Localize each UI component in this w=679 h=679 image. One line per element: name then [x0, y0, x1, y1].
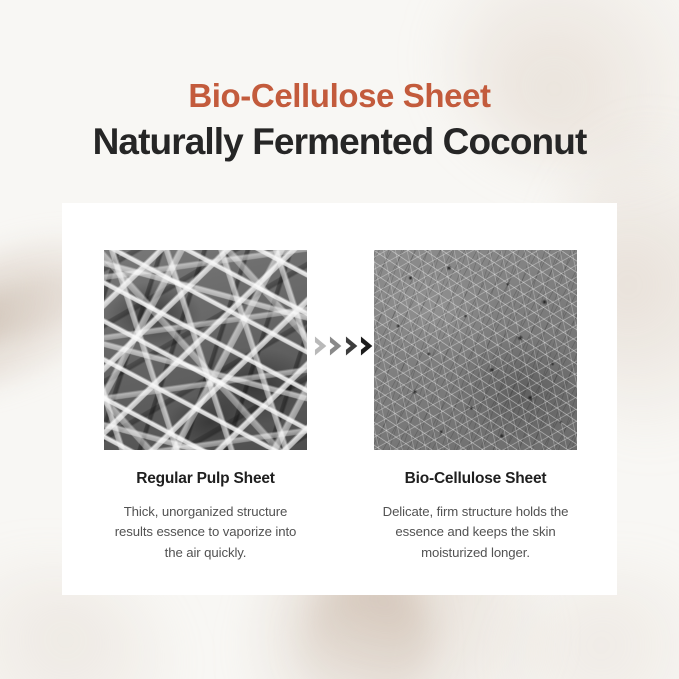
page-title: Naturally Fermented Coconut — [0, 121, 679, 162]
comparison-panels: Regular Pulp Sheet Thick, unorganized st… — [62, 203, 617, 595]
accent-title: Bio-Cellulose Sheet — [0, 78, 679, 115]
infographic-root: Bio-Cellulose Sheet Naturally Fermented … — [0, 0, 679, 679]
sem-bio-cellulose-sheet-image — [374, 250, 577, 450]
panel-regular-pulp: Regular Pulp Sheet Thick, unorganized st… — [104, 250, 307, 563]
panel-bio-cellulose-description: Delicate, firm structure holds the essen… — [374, 502, 577, 563]
chevron-right-icon-3 — [345, 335, 359, 357]
panel-regular-pulp-description: Thick, unorganized structure results ess… — [104, 502, 307, 563]
chevron-right-icon-2 — [329, 335, 343, 357]
heading-group: Bio-Cellulose Sheet Naturally Fermented … — [0, 78, 679, 162]
chevron-right-icon-4 — [360, 335, 374, 357]
panel-bio-cellulose: Bio-Cellulose Sheet Delicate, firm struc… — [374, 250, 577, 563]
sem-regular-pulp-sheet-image — [104, 250, 307, 450]
chevron-right-icon-1 — [314, 335, 328, 357]
panel-bio-cellulose-title: Bio-Cellulose Sheet — [374, 470, 577, 488]
chevron-right-arrows — [314, 333, 374, 359]
panel-regular-pulp-title: Regular Pulp Sheet — [104, 470, 307, 488]
comparison-card: Regular Pulp Sheet Thick, unorganized st… — [62, 203, 617, 595]
